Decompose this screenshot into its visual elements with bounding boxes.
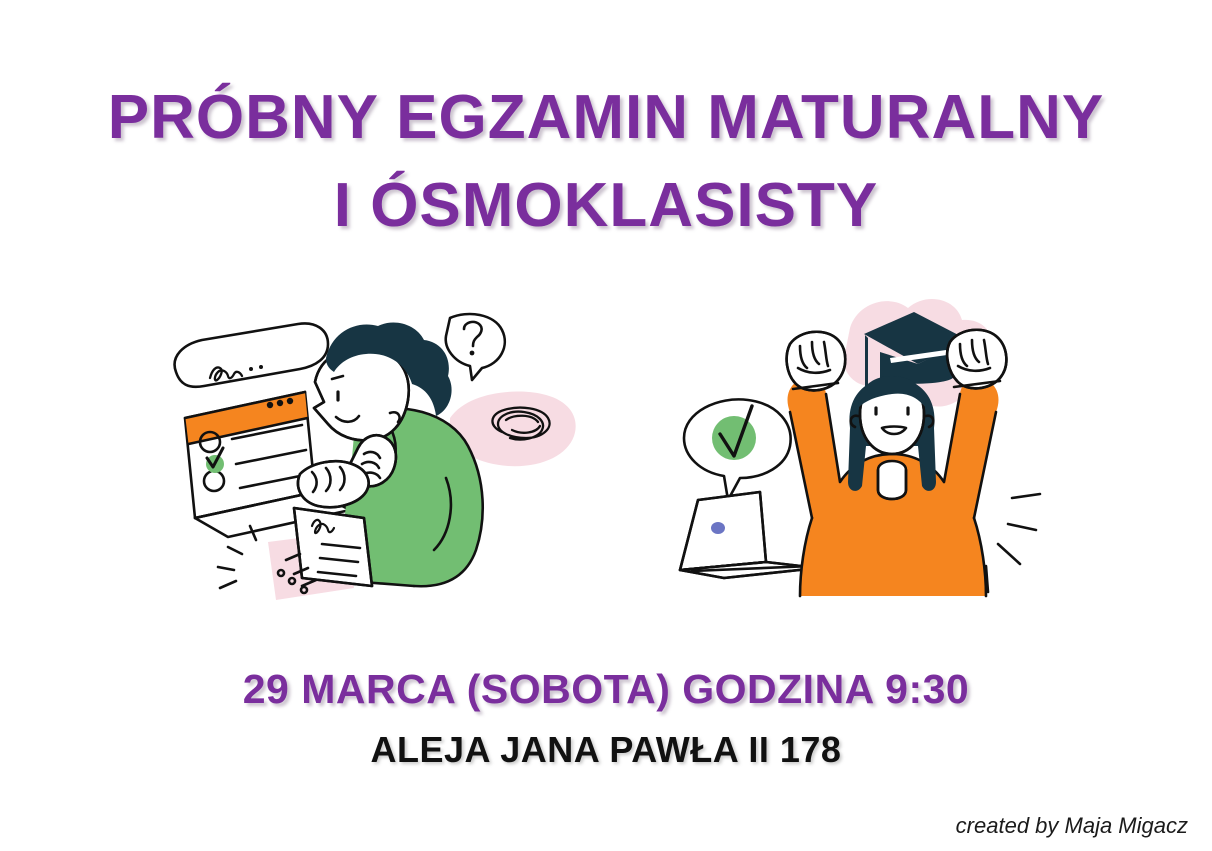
poster-title: PRÓBNY EGZAMIN MATURALNY I ÓSMOKLASISTY: [0, 74, 1212, 250]
question-bubble: [446, 314, 505, 380]
title-line-1: PRÓBNY EGZAMIN MATURALNY: [0, 74, 1212, 162]
poster-canvas: PRÓBNY EGZAMIN MATURALNY I ÓSMOKLASISTY: [0, 0, 1212, 851]
checkmark-speech-bubble: [684, 399, 791, 500]
student-thinking-illustration: [150, 296, 595, 631]
poster-details: 29 MARCA (SOBOTA) GODZINA 9:30 ALEJA JAN…: [0, 664, 1212, 773]
title-line-2: I ÓSMOKLASISTY: [0, 162, 1212, 250]
author-credit: created by Maja Migacz: [956, 813, 1188, 839]
student-celebrating-illustration: [668, 286, 1078, 626]
search-bar-pill: [175, 323, 328, 386]
action-lines: [986, 494, 1040, 592]
left-raised-fist: [787, 332, 846, 391]
neck: [878, 461, 906, 499]
typing-hand: [298, 461, 369, 507]
exam-date-line: 29 MARCA (SOBOTA) GODZINA 9:30: [0, 664, 1212, 715]
right-raised-fist: [947, 330, 1006, 389]
laptop: [680, 492, 818, 578]
exam-address-line: ALEJA JANA PAWŁA II 178: [0, 727, 1212, 773]
